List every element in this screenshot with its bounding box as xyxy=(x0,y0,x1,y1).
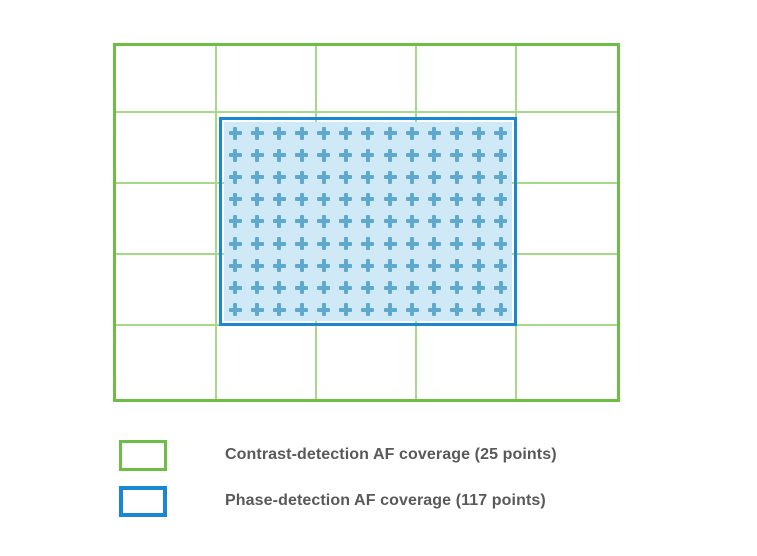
plus-icon xyxy=(251,171,264,184)
plus-icon xyxy=(472,215,485,228)
plus-icon xyxy=(229,127,242,140)
plus-icon xyxy=(428,193,441,206)
plus-icon xyxy=(273,281,286,294)
phase-af-point-grid xyxy=(224,122,512,321)
phase-af-fill xyxy=(224,122,512,321)
plus-icon xyxy=(428,149,441,162)
plus-icon xyxy=(450,127,463,140)
plus-icon xyxy=(317,127,330,140)
plus-icon xyxy=(494,171,507,184)
plus-icon xyxy=(295,303,308,316)
plus-icon xyxy=(428,127,441,140)
plus-icon xyxy=(384,127,397,140)
plus-icon xyxy=(339,171,352,184)
plus-icon xyxy=(273,149,286,162)
plus-icon xyxy=(295,193,308,206)
plus-icon xyxy=(472,193,485,206)
plus-icon xyxy=(494,281,507,294)
plus-icon xyxy=(428,171,441,184)
plus-icon xyxy=(295,149,308,162)
plus-icon xyxy=(450,149,463,162)
plus-icon xyxy=(317,237,330,250)
plus-icon xyxy=(472,281,485,294)
legend-swatch-green xyxy=(119,440,167,471)
plus-icon xyxy=(251,259,264,272)
plus-icon xyxy=(229,171,242,184)
plus-icon xyxy=(229,149,242,162)
plus-icon xyxy=(317,215,330,228)
plus-icon xyxy=(472,303,485,316)
plus-icon xyxy=(406,259,419,272)
plus-icon xyxy=(494,149,507,162)
plus-icon xyxy=(273,215,286,228)
plus-icon xyxy=(251,237,264,250)
plus-icon xyxy=(384,171,397,184)
plus-icon xyxy=(472,237,485,250)
plus-icon xyxy=(229,281,242,294)
plus-icon xyxy=(229,303,242,316)
plus-icon xyxy=(384,259,397,272)
plus-icon xyxy=(251,215,264,228)
plus-icon xyxy=(494,193,507,206)
plus-icon xyxy=(229,215,242,228)
plus-icon xyxy=(295,259,308,272)
plus-icon xyxy=(494,237,507,250)
plus-icon xyxy=(339,237,352,250)
plus-icon xyxy=(472,171,485,184)
plus-icon xyxy=(295,281,308,294)
af-coverage-diagram: Contrast-detection AF coverage (25 point… xyxy=(0,0,757,556)
plus-icon xyxy=(251,303,264,316)
plus-icon xyxy=(361,281,374,294)
plus-icon xyxy=(472,259,485,272)
plus-icon xyxy=(295,171,308,184)
plus-icon xyxy=(295,215,308,228)
plus-icon xyxy=(384,303,397,316)
legend-swatch-blue xyxy=(119,486,167,517)
plus-icon xyxy=(273,303,286,316)
plus-icon xyxy=(361,149,374,162)
plus-icon xyxy=(450,303,463,316)
plus-icon xyxy=(295,127,308,140)
plus-icon xyxy=(273,127,286,140)
plus-icon xyxy=(339,127,352,140)
plus-icon xyxy=(317,303,330,316)
plus-icon xyxy=(317,193,330,206)
plus-icon xyxy=(450,193,463,206)
plus-icon xyxy=(494,259,507,272)
plus-icon xyxy=(450,215,463,228)
plus-icon xyxy=(273,237,286,250)
plus-icon xyxy=(251,281,264,294)
plus-icon xyxy=(406,237,419,250)
plus-icon xyxy=(339,281,352,294)
plus-icon xyxy=(384,193,397,206)
plus-icon xyxy=(273,193,286,206)
plus-icon xyxy=(361,303,374,316)
plus-icon xyxy=(361,215,374,228)
plus-icon xyxy=(472,127,485,140)
plus-icon xyxy=(251,149,264,162)
legend-item-contrast-af: Contrast-detection AF coverage (25 point… xyxy=(119,432,639,478)
plus-icon xyxy=(428,303,441,316)
plus-icon xyxy=(494,127,507,140)
plus-icon xyxy=(361,127,374,140)
plus-icon xyxy=(229,259,242,272)
plus-icon xyxy=(317,149,330,162)
plus-icon xyxy=(494,303,507,316)
plus-icon xyxy=(428,237,441,250)
plus-icon xyxy=(406,171,419,184)
plus-icon xyxy=(384,281,397,294)
plus-icon xyxy=(494,215,507,228)
contrast-grid-line-horizontal-1 xyxy=(116,111,617,113)
plus-icon xyxy=(406,281,419,294)
plus-icon xyxy=(361,193,374,206)
plus-icon xyxy=(229,237,242,250)
plus-icon xyxy=(273,171,286,184)
contrast-grid-line-vertical-1 xyxy=(215,46,217,399)
plus-icon xyxy=(450,259,463,272)
plus-icon xyxy=(406,149,419,162)
plus-icon xyxy=(251,127,264,140)
plus-icon xyxy=(317,259,330,272)
plus-icon xyxy=(339,259,352,272)
plus-icon xyxy=(428,259,441,272)
plus-icon xyxy=(450,281,463,294)
plus-icon xyxy=(339,149,352,162)
plus-icon xyxy=(384,215,397,228)
plus-icon xyxy=(317,171,330,184)
plus-icon xyxy=(384,237,397,250)
plus-icon xyxy=(295,237,308,250)
plus-icon xyxy=(273,259,286,272)
legend-label-contrast-af: Contrast-detection AF coverage (25 point… xyxy=(225,446,557,464)
plus-icon xyxy=(384,149,397,162)
plus-icon xyxy=(339,215,352,228)
plus-icon xyxy=(361,237,374,250)
plus-icon xyxy=(229,193,242,206)
plus-icon xyxy=(428,215,441,228)
legend-item-phase-af: Phase-detection AF coverage (117 points) xyxy=(119,478,639,524)
plus-icon xyxy=(406,303,419,316)
plus-icon xyxy=(428,281,441,294)
plus-icon xyxy=(472,149,485,162)
plus-icon xyxy=(361,171,374,184)
plus-icon xyxy=(406,193,419,206)
plus-icon xyxy=(361,259,374,272)
plus-icon xyxy=(251,193,264,206)
plus-icon xyxy=(339,303,352,316)
phase-af-coverage-area xyxy=(219,117,517,326)
plus-icon xyxy=(317,281,330,294)
legend: Contrast-detection AF coverage (25 point… xyxy=(119,432,639,524)
plus-icon xyxy=(406,127,419,140)
plus-icon xyxy=(406,215,419,228)
plus-icon xyxy=(339,193,352,206)
plus-icon xyxy=(450,237,463,250)
legend-label-phase-af: Phase-detection AF coverage (117 points) xyxy=(225,492,546,510)
plus-icon xyxy=(450,171,463,184)
